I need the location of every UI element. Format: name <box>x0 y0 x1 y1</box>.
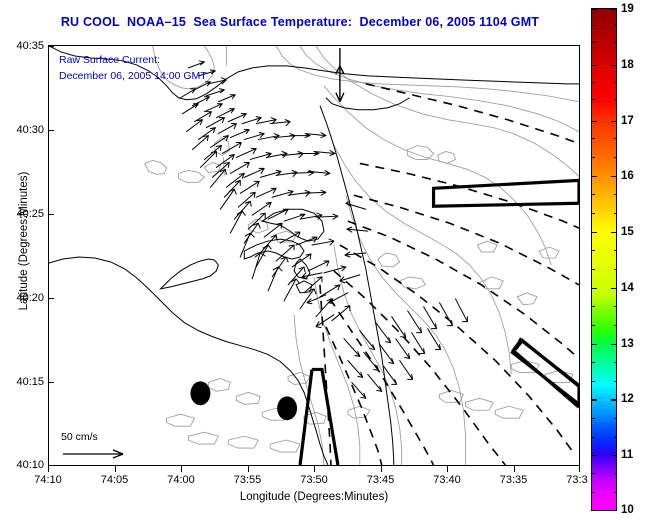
colorbar-tick <box>591 455 597 456</box>
colorbar-minor-tick <box>591 157 595 158</box>
colorbar-minor-tick <box>614 325 618 326</box>
x-tick-label: 74:05 <box>101 474 129 486</box>
y-tick-label: 40:15 <box>4 376 44 388</box>
shipping-lane-boxes <box>300 180 579 465</box>
x-tick-label: 73:35 <box>500 474 528 486</box>
colorbar-minor-tick <box>591 269 595 270</box>
colorbar-tick-label: 18 <box>621 59 634 71</box>
y-tick-label: 40:10 <box>4 459 44 471</box>
x-tick-label: 73:45 <box>367 474 395 486</box>
colorbar-minor-tick <box>591 82 595 83</box>
colorbar-minor-tick <box>614 418 618 419</box>
colorbar-minor-tick <box>591 25 595 26</box>
map-graphics <box>49 46 579 465</box>
colorbar-tick <box>611 232 617 233</box>
colorbar-minor-tick <box>591 437 595 438</box>
colorbar-minor-tick <box>614 25 618 26</box>
y-tick-mark <box>48 298 54 299</box>
colorbar-tick-label: 16 <box>621 170 634 182</box>
colorbar-minor-tick <box>614 138 618 139</box>
x-tick-label: 73:3 <box>566 474 587 486</box>
colorbar-minor-tick <box>591 418 595 419</box>
dashed-transect-rays <box>320 84 579 465</box>
x-tick-label: 73:40 <box>433 474 461 486</box>
colorbar-tick-label: 11 <box>621 449 633 461</box>
colorbar-tick-label: 12 <box>621 393 634 405</box>
x-tick-mark <box>314 466 315 472</box>
colorbar-tick <box>611 176 617 177</box>
colorbar-minor-tick <box>614 306 618 307</box>
colorbar-minor-tick <box>614 157 618 158</box>
colorbar-minor-tick <box>591 194 595 195</box>
x-tick-mark <box>248 466 249 472</box>
y-tick-mark <box>48 46 54 47</box>
x-tick-label: 73:55 <box>234 474 262 486</box>
colorbar-minor-tick <box>591 492 595 493</box>
x-tick-label: 74:00 <box>167 474 195 486</box>
vector-scale-arrow-icon <box>61 443 133 461</box>
y-tick-label: 40:35 <box>4 40 44 52</box>
colorbar-tick <box>611 510 617 511</box>
x-tick-mark <box>381 466 382 472</box>
y-tick-mark <box>48 382 54 383</box>
y-axis-label: Latitude (Degrees:Minutes) <box>18 131 30 351</box>
colorbar-tick-label: 14 <box>621 282 634 294</box>
colorbar-minor-tick <box>591 362 595 363</box>
colorbar-tick <box>591 121 597 122</box>
colorbar-tick <box>611 65 617 66</box>
colorbar-tick <box>611 9 617 10</box>
colorbar-minor-tick <box>591 42 595 43</box>
colorbar-minor-tick <box>591 381 595 382</box>
colorbar-minor-tick <box>591 138 595 139</box>
colorbar-minor-tick <box>591 213 595 214</box>
colorbar-minor-tick <box>591 473 595 474</box>
x-tick-mark <box>115 466 116 472</box>
x-tick-label: 74:10 <box>34 474 62 486</box>
vector-scale-label: 50 cm/s <box>61 431 133 443</box>
colorbar-tick-label: 10 <box>621 504 634 516</box>
colorbar-minor-tick <box>591 325 595 326</box>
colorbar-minor-tick <box>614 362 618 363</box>
page-title: RU COOL NOAA–15 Sea Surface Temperature:… <box>0 15 600 29</box>
x-tick-mark <box>48 466 49 472</box>
colorbar-minor-tick <box>591 306 595 307</box>
figure-canvas: RU COOL NOAA–15 Sea Surface Temperature:… <box>0 0 651 519</box>
colorbar-minor-tick <box>614 250 618 251</box>
annotation-line-2: December 06, 2005 14:00 GMT <box>59 70 207 82</box>
colorbar-minor-tick <box>614 437 618 438</box>
colorbar-tick-label: 19 <box>621 3 634 15</box>
colorbar-tick <box>591 232 597 233</box>
colorbar-tick-label: 13 <box>621 338 634 350</box>
colorbar-minor-tick <box>614 99 618 100</box>
colorbar-minor-tick <box>614 213 618 214</box>
colorbar-tick <box>611 121 617 122</box>
colorbar-tick-label: 17 <box>621 115 634 127</box>
colorbar-tick-label: 15 <box>621 226 634 238</box>
x-tick-mark <box>514 466 515 472</box>
colorbar-minor-tick <box>614 82 618 83</box>
colorbar-tick <box>591 344 597 345</box>
x-axis-label: Longitude (Degrees:Minutes) <box>48 491 580 503</box>
colorbar-minor-tick <box>614 194 618 195</box>
colorbar-tick <box>591 65 597 66</box>
colorbar-minor-tick <box>614 473 618 474</box>
colorbar-tick <box>611 455 617 456</box>
x-tick-mark <box>579 466 580 472</box>
y-tick-mark <box>48 214 54 215</box>
colorbar-minor-tick <box>614 492 618 493</box>
colorbar-tick <box>591 510 597 511</box>
vector-scale-legend: 50 cm/s <box>61 431 133 466</box>
colorbar-minor-tick <box>591 250 595 251</box>
colorbar[interactable] <box>591 8 617 511</box>
annotation-line-1: Raw Surface Current: <box>59 54 160 66</box>
colorbar-tick <box>591 9 597 10</box>
colorbar-minor-tick <box>614 42 618 43</box>
map-plot-area[interactable]: Raw Surface Current: December 06, 2005 1… <box>48 45 580 466</box>
colorbar-minor-tick <box>591 99 595 100</box>
shipping-lane-diagonal <box>511 339 579 405</box>
x-tick-mark <box>447 466 448 472</box>
colorbar-tick <box>591 176 597 177</box>
colorbar-tick <box>611 288 617 289</box>
colorbar-tick <box>591 288 597 289</box>
coastline <box>49 46 579 465</box>
y-tick-mark <box>48 130 54 131</box>
colorbar-minor-tick <box>614 381 618 382</box>
colorbar-tick <box>611 399 617 400</box>
colorbar-minor-tick <box>614 269 618 270</box>
colorbar-tick <box>591 399 597 400</box>
colorbar-tick <box>611 344 617 345</box>
station-markers <box>190 381 297 420</box>
x-tick-label: 73:50 <box>300 474 328 486</box>
y-tick-mark <box>48 465 54 466</box>
x-tick-mark <box>181 466 182 472</box>
